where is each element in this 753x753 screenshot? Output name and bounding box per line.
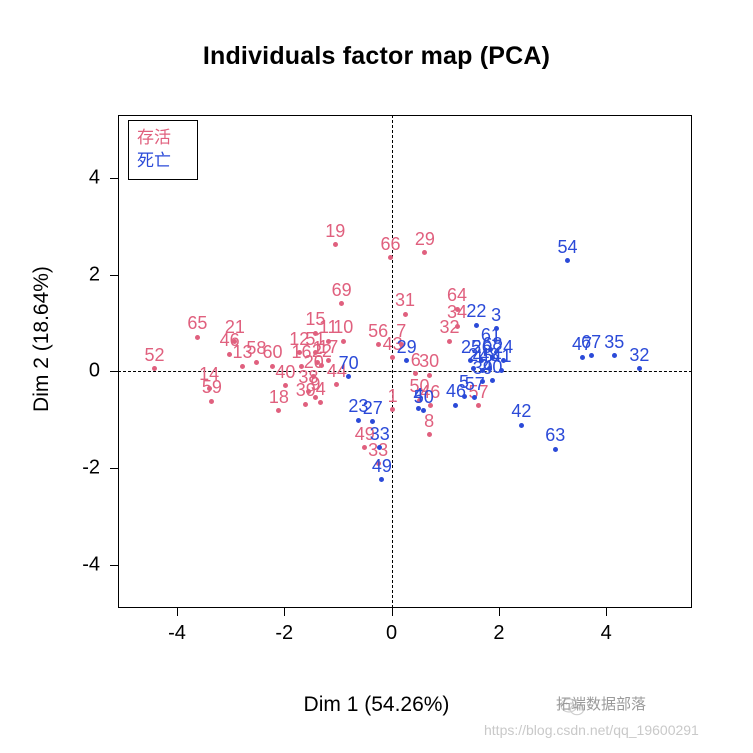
y-axis-tick <box>110 565 118 566</box>
x-axis-tick-label: 2 <box>493 622 504 645</box>
x-axis-tick <box>606 608 607 616</box>
y-axis-tick-label: 0 <box>89 360 100 383</box>
plot-frame-border <box>118 115 692 608</box>
y-axis-tick <box>110 275 118 276</box>
y-axis-tick <box>110 371 118 372</box>
x-axis-tick-label: -4 <box>168 622 186 645</box>
y-axis-tick-label: -2 <box>82 456 100 479</box>
y-axis-tick <box>110 178 118 179</box>
y-axis-tick-label: 2 <box>89 263 100 286</box>
y-axis-tick <box>110 468 118 469</box>
y-axis-label: Dim 2 (18.64%) <box>30 189 54 489</box>
x-axis-tick <box>392 608 393 616</box>
watermark-url: https://blog.csdn.net/qq_19600291 <box>484 722 699 738</box>
legend-item-died: 死亡 <box>137 153 171 170</box>
x-axis-tick <box>499 608 500 616</box>
watermark-brand: 拓端数据部落 <box>556 693 646 714</box>
x-axis-tick-label: 4 <box>601 622 612 645</box>
x-axis-tick <box>284 608 285 616</box>
y-axis-tick-label: -4 <box>82 553 100 576</box>
x-axis-tick-label: -2 <box>275 622 293 645</box>
y-axis-tick-label: 4 <box>89 166 100 189</box>
legend-box: 存活 死亡 <box>128 120 198 180</box>
x-axis-tick-label: 0 <box>386 622 397 645</box>
legend-item-survived: 存活 <box>137 130 171 147</box>
pca-scatter-plot-screenshot: Individuals factor map (PCA) 19662969316… <box>0 0 753 753</box>
chart-title: Individuals factor map (PCA) <box>0 42 753 71</box>
x-axis-tick <box>177 608 178 616</box>
